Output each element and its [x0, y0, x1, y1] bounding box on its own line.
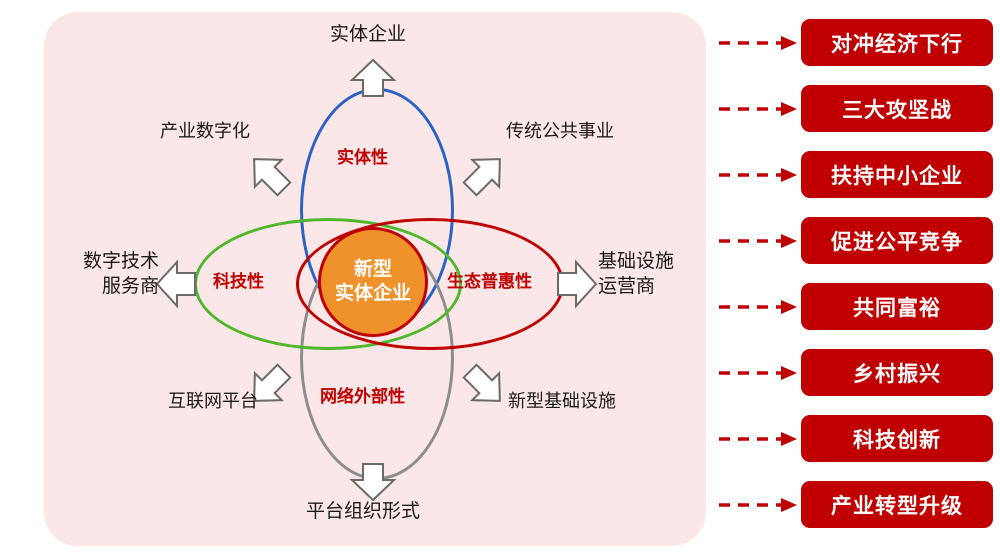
chip-row: 对冲经济下行: [715, 18, 993, 67]
dashed-arrow-icon: [715, 32, 801, 54]
chip-6[interactable]: 科技创新: [801, 415, 993, 462]
outer-label-left-line1: 数字技术: [55, 250, 159, 275]
chip-1[interactable]: 三大攻坚战: [801, 85, 993, 132]
chip-row: 促进公平竞争: [715, 216, 993, 265]
chip-0[interactable]: 对冲经济下行: [801, 19, 993, 66]
chip-row: 共同富裕: [715, 282, 993, 331]
dashed-arrow-icon: [715, 494, 801, 516]
diagram-canvas: 新型 实体企业 实体性 科技性 生态普惠性 网络外部性 实体企业 平台组织形式 …: [0, 0, 1000, 558]
center-node-line1: 新型: [354, 258, 392, 282]
chip-4[interactable]: 共同富裕: [801, 283, 993, 330]
arrow-down-icon: [348, 462, 398, 502]
dashed-arrow-icon: [715, 362, 801, 384]
arrow-up-right-icon: [462, 150, 508, 198]
outer-label-bottom-right: 新型基础设施: [508, 390, 616, 413]
chip-row: 科技创新: [715, 414, 993, 463]
venn-label-shiti: 实体性: [337, 143, 388, 168]
venn-label-keji: 科技性: [213, 267, 264, 292]
chip-5[interactable]: 乡村振兴: [801, 349, 993, 396]
chip-3[interactable]: 促进公平竞争: [801, 217, 993, 264]
arrow-right-icon: [556, 258, 598, 310]
outer-label-top-left: 产业数字化: [160, 120, 250, 143]
venn-label-wangluo: 网络外部性: [320, 382, 405, 407]
dashed-arrow-icon: [715, 428, 801, 450]
arrow-up-left-icon: [246, 150, 292, 198]
outer-label-bottom-left: 互联网平台: [168, 390, 258, 413]
outer-label-left-line2: 服务商: [55, 275, 159, 300]
chip-row: 乡村振兴: [715, 348, 993, 397]
outer-label-right: 基础设施 运营商: [598, 250, 708, 299]
center-node: 新型 实体企业: [318, 227, 428, 337]
outer-label-top: 实体企业: [330, 23, 406, 48]
dashed-arrow-icon: [715, 98, 801, 120]
outer-label-right-line1: 基础设施: [598, 250, 708, 275]
arrow-down-right-icon: [462, 362, 508, 410]
outer-label-bottom: 平台组织形式: [306, 500, 420, 525]
outer-label-top-right: 传统公共事业: [506, 120, 614, 143]
venn-label-shengtai: 生态普惠性: [447, 267, 532, 292]
outer-label-left: 数字技术 服务商: [55, 250, 159, 299]
outer-label-right-line2: 运营商: [598, 275, 708, 300]
chip-7[interactable]: 产业转型升级: [801, 481, 993, 528]
center-node-line2: 实体企业: [335, 282, 411, 306]
chip-row: 三大攻坚战: [715, 84, 993, 133]
arrow-up-icon: [348, 58, 398, 98]
dashed-arrow-icon: [715, 296, 801, 318]
dashed-arrow-icon: [715, 164, 801, 186]
policy-chip-list: 对冲经济下行 三大攻坚战 扶持中小企业: [715, 18, 993, 542]
chip-row: 产业转型升级: [715, 480, 993, 529]
chip-2[interactable]: 扶持中小企业: [801, 151, 993, 198]
arrow-left-icon: [155, 258, 197, 310]
dashed-arrow-icon: [715, 230, 801, 252]
chip-row: 扶持中小企业: [715, 150, 993, 199]
